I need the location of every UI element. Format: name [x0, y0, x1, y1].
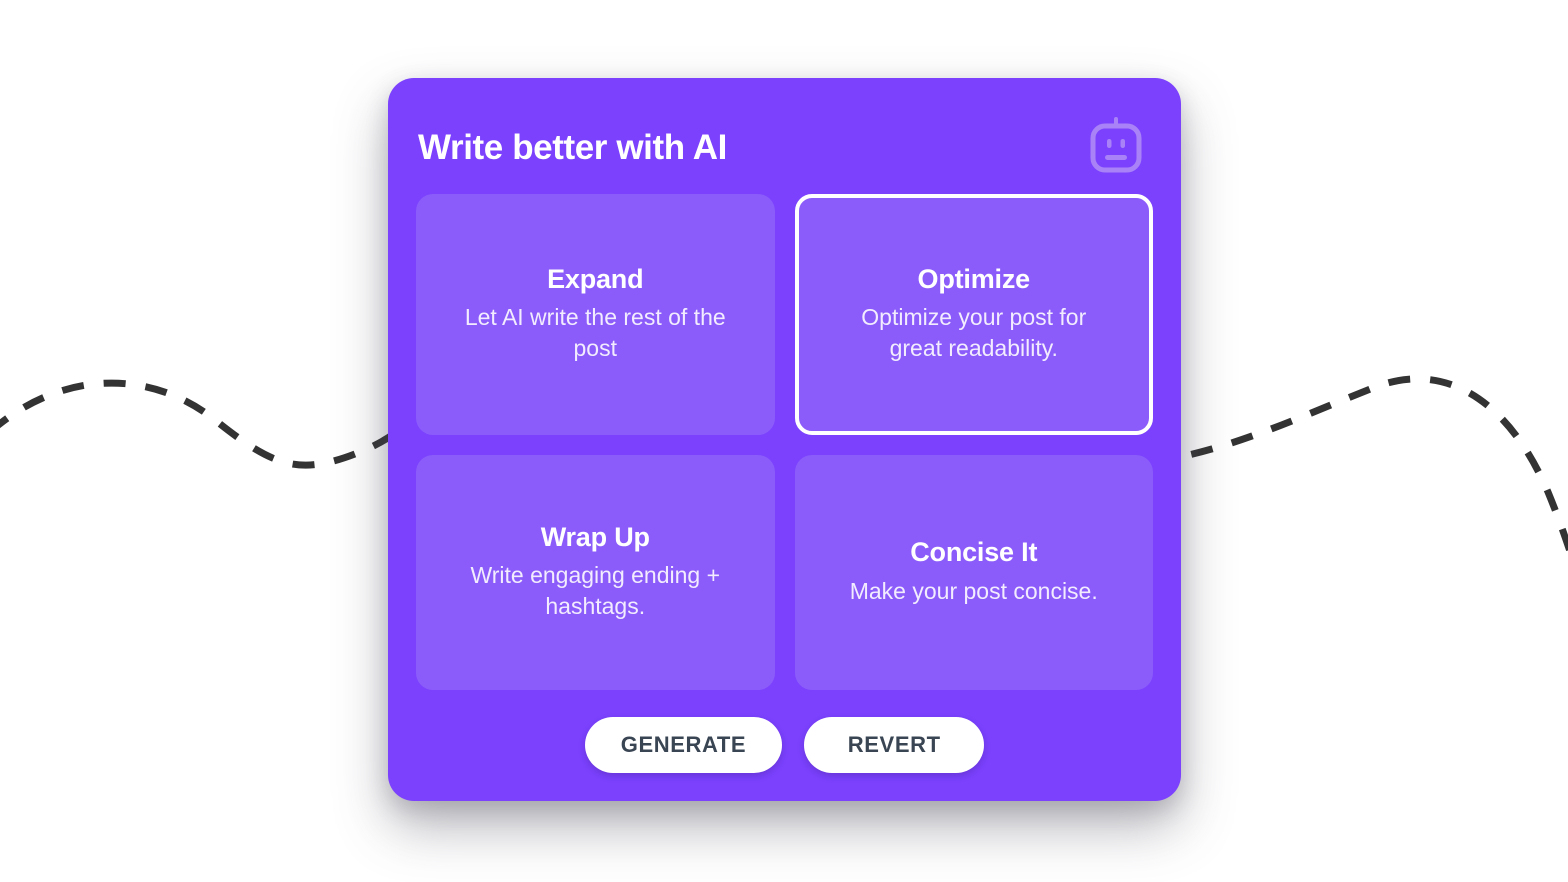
option-card-concise-it[interactable]: Concise It Make your post concise. — [795, 455, 1154, 690]
option-description: Let AI write the rest of the post — [455, 302, 735, 364]
option-description: Make your post concise. — [850, 576, 1098, 607]
panel-footer: GENERATE REVERT — [416, 717, 1153, 773]
option-description: Optimize your post for great readability… — [834, 302, 1114, 364]
robot-icon — [1085, 116, 1147, 178]
option-grid: Expand Let AI write the rest of the post… — [416, 194, 1153, 690]
dashed-curve-left — [0, 383, 430, 465]
generate-button[interactable]: GENERATE — [585, 717, 782, 773]
option-card-wrap-up[interactable]: Wrap Up Write engaging ending + hashtags… — [416, 455, 775, 690]
option-title: Optimize — [918, 265, 1030, 295]
dashed-curve-right — [1150, 379, 1568, 566]
ai-writer-panel: Write better with AI Expand Let AI write… — [388, 78, 1181, 801]
page-title: Write better with AI — [418, 130, 727, 165]
option-title: Concise It — [910, 538, 1037, 568]
panel-header: Write better with AI — [416, 104, 1153, 190]
option-card-optimize[interactable]: Optimize Optimize your post for great re… — [795, 194, 1154, 435]
page-background: Write better with AI Expand Let AI write… — [0, 0, 1568, 882]
option-title: Wrap Up — [541, 523, 650, 553]
option-title: Expand — [547, 265, 643, 295]
revert-button[interactable]: REVERT — [804, 717, 984, 773]
option-card-expand[interactable]: Expand Let AI write the rest of the post — [416, 194, 775, 435]
option-description: Write engaging ending + hashtags. — [455, 560, 735, 622]
